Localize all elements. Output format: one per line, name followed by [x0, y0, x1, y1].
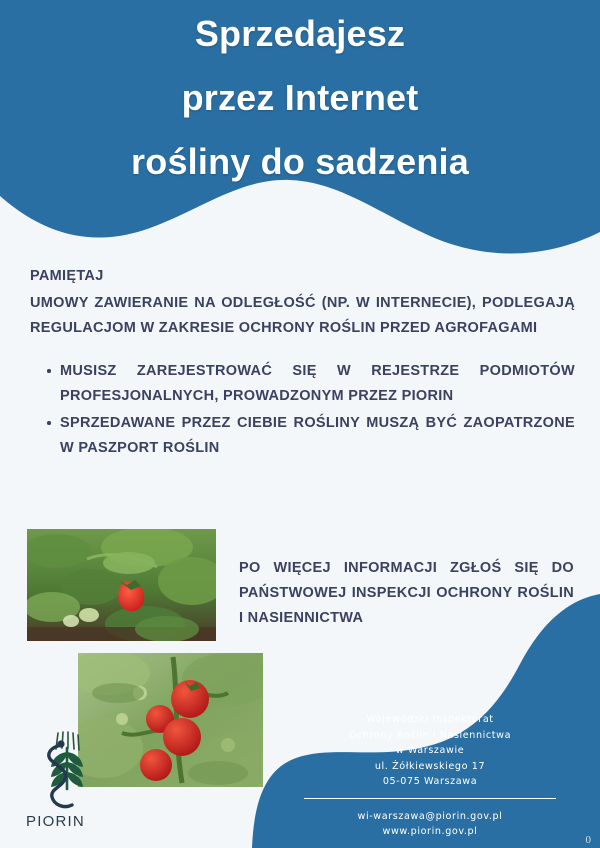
footer-email[interactable]: wi-warszawa@piorin.gov.pl: [300, 809, 560, 825]
remember-label: PAMIĘTAJ: [30, 268, 575, 284]
list-item: MUSISZ ZAREJESTROWAĆ SIĘ W REJESTRZE POD…: [60, 359, 575, 409]
title-line-3: rośliny do sadzenia: [131, 144, 469, 180]
title-line-2: przez Internet: [182, 80, 419, 116]
contact-instruction-block: PO WIĘCEJ INFORMACJI ZGŁOŚ SIĘ DO PAŃSTW…: [239, 556, 574, 631]
requirements-list: MUSISZ ZAREJESTROWAĆ SIĘ W REJESTRZE POD…: [30, 359, 575, 461]
poster-title: Sprzedajesz przez Internet rośliny do sa…: [0, 0, 600, 215]
body-text-block: PAMIĘTAJ UMOWY ZAWIERANIE NA ODLEGŁOŚĆ (…: [30, 268, 575, 463]
address-line: 05-075 Warszawa: [300, 774, 560, 790]
address-line: w Warszawie: [300, 743, 560, 759]
address-line: ul. Żółkiewskiego 17: [300, 759, 560, 775]
contact-instruction-text: PO WIĘCEJ INFORMACJI ZGŁOŚ SIĘ DO PAŃSTW…: [239, 556, 574, 631]
poster-root: Sprzedajesz przez Internet rośliny do sa…: [0, 0, 600, 848]
footer-contact-block: Wojewódzki Inspektorat Ochrony Roślin i …: [300, 712, 560, 840]
piorin-wordmark: PIORIN: [26, 813, 98, 830]
list-item: SPRZEDAWANE PRZEZ CIEBIE ROŚLINY MUSZĄ B…: [60, 411, 575, 461]
footer-divider: [304, 798, 556, 799]
strawberry-plant-photo: [27, 529, 216, 641]
address-line: Ochrony Roślin i Nasiennictwa: [300, 728, 560, 744]
wheat-and-snake-emblem: [32, 731, 92, 817]
tomato-plant-photo: [78, 653, 263, 787]
piorin-logo: PIORIN: [26, 731, 98, 839]
title-line-1: Sprzedajesz: [195, 16, 405, 52]
footer-website[interactable]: www.piorin.gov.pl: [300, 824, 560, 840]
address-line: Wojewódzki Inspektorat: [300, 712, 560, 728]
page-number: 0: [586, 834, 592, 846]
body-paragraph: UMOWY ZAWIERANIE NA ODLEGŁOŚĆ (NP. W INT…: [30, 291, 575, 341]
